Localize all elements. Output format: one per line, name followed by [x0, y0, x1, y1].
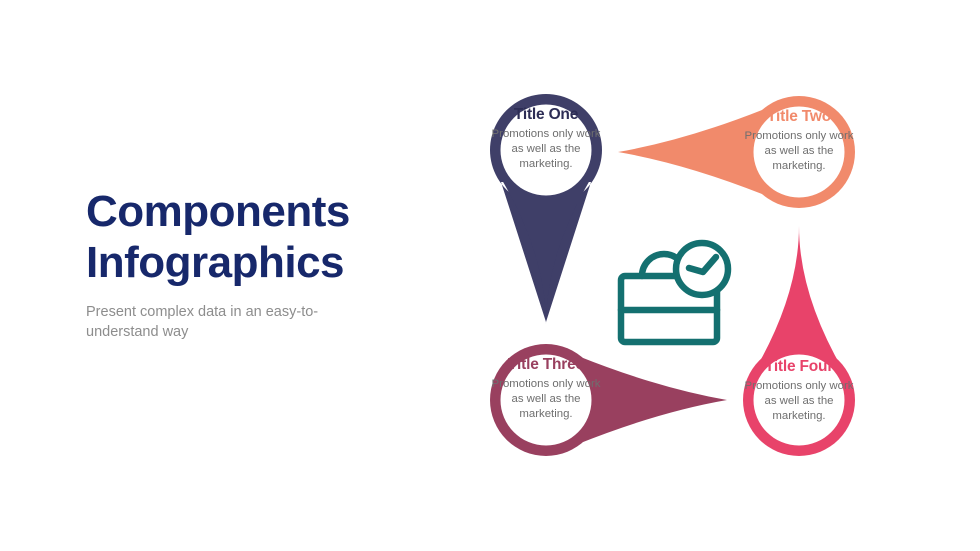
pin-one[interactable] [490, 94, 602, 324]
pin-two-tail [618, 108, 767, 196]
pin-two-inner [754, 107, 845, 198]
pin-two[interactable] [618, 96, 855, 208]
pin-four-tail [755, 226, 843, 370]
page-subtitle: Present complex data in an easy-to-under… [86, 302, 348, 342]
headline-block: Components Infographics Present complex … [86, 186, 416, 342]
pin-three[interactable] [490, 344, 727, 456]
page-title: Components Infographics [86, 186, 416, 288]
pin-four[interactable] [743, 226, 855, 456]
pin-one-inner [501, 105, 592, 196]
pin-three-inner [501, 355, 592, 446]
briefcase-clock-icon [621, 243, 728, 342]
pin-three-tail [578, 356, 727, 444]
pin-four-inner [754, 355, 845, 446]
infographic-diagram: Title One Promotions only work as well a… [455, 60, 895, 490]
pin-one-tail [502, 180, 590, 324]
slide-canvas: Components Infographics Present complex … [0, 0, 980, 551]
